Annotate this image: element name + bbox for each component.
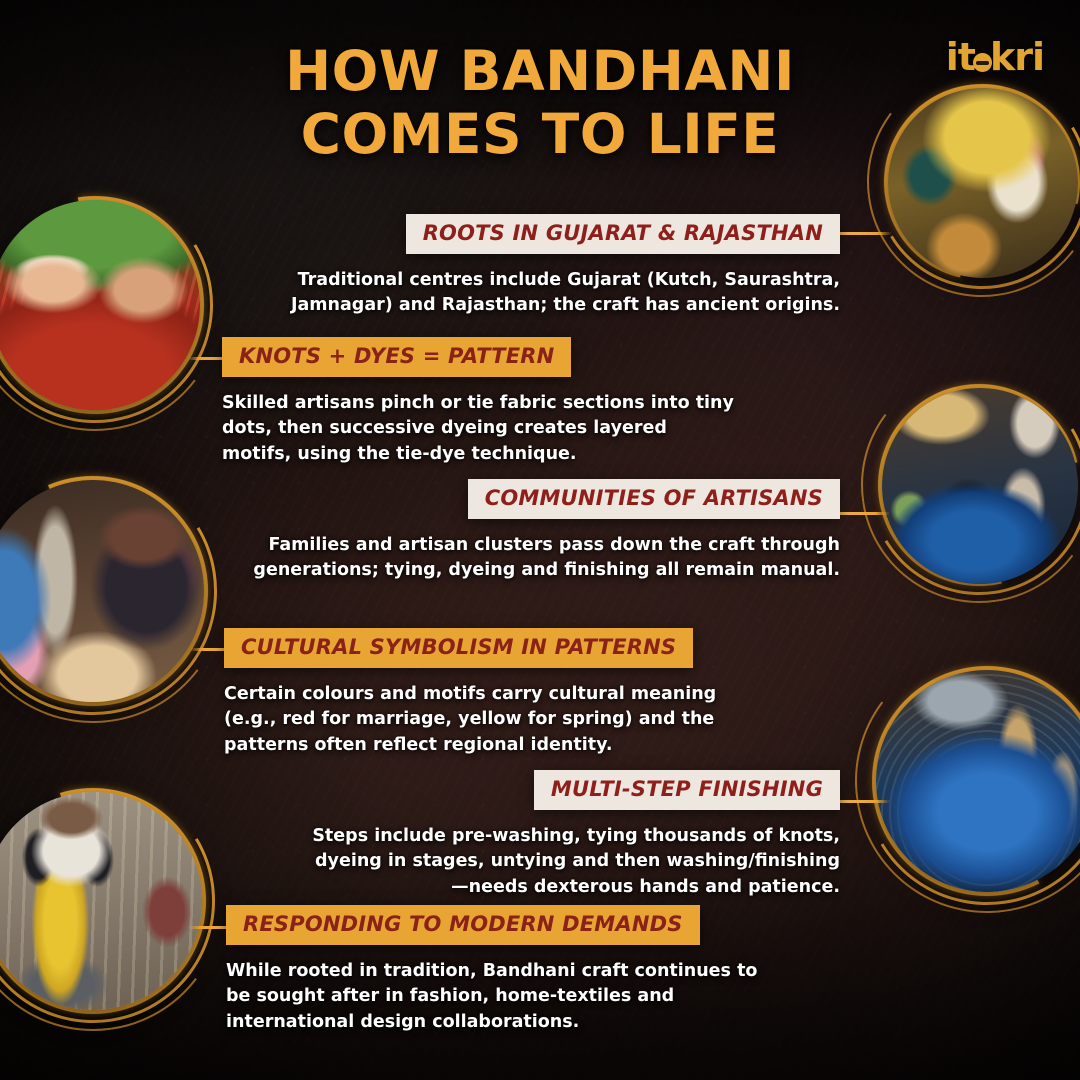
photo-artisan-dyeing-blue-tub bbox=[882, 388, 1078, 584]
section-label-knots[interactable]: KNOTS + DYES = PATTERN bbox=[222, 337, 571, 377]
photo-indigo-dye-vat bbox=[876, 670, 1080, 892]
photo-two-women-tying bbox=[888, 88, 1078, 278]
section-body-roots: Traditional centres include Gujarat (Kut… bbox=[280, 268, 840, 319]
section-body-modern: While rooted in tradition, Bandhani craf… bbox=[226, 959, 786, 1036]
section-label-roots[interactable]: ROOTS IN GUJARAT & RAJASTHAN bbox=[406, 214, 840, 254]
connector-line-finishing bbox=[840, 800, 890, 803]
section-modern: RESPONDING TO MODERN DEMANDS While roote… bbox=[226, 905, 786, 1036]
section-knots: KNOTS + DYES = PATTERN Skilled artisans … bbox=[222, 337, 742, 468]
connector-line-roots bbox=[840, 232, 892, 235]
photo-hands-tying-red-fabric bbox=[0, 200, 200, 410]
section-communities: COMMUNITIES OF ARTISANS Families and art… bbox=[240, 479, 840, 584]
brand-logo-text: it bbox=[946, 35, 975, 79]
section-body-knots: Skilled artisans pinch or tie fabric sec… bbox=[222, 391, 742, 468]
section-label-communities[interactable]: COMMUNITIES OF ARTISANS bbox=[468, 479, 840, 519]
section-finishing: MULTI-STEP FINISHING Steps include pre-w… bbox=[310, 770, 840, 901]
photo-artisan-lifting-yellow-fabric bbox=[0, 792, 202, 1010]
section-roots: ROOTS IN GUJARAT & RAJASTHAN Traditional… bbox=[280, 214, 840, 319]
photo-women-tying-cream-fabric bbox=[0, 480, 204, 702]
infographic-poster: itkri HOW BANDHANI COMES TO LIFE bbox=[0, 0, 1080, 1080]
section-body-communities: Families and artisan clusters pass down … bbox=[240, 533, 840, 584]
brand-logo: itkri bbox=[946, 38, 1044, 76]
section-label-symbolism[interactable]: CULTURAL SYMBOLISM IN PATTERNS bbox=[224, 628, 693, 668]
connector-line-communities bbox=[840, 512, 890, 515]
section-label-modern[interactable]: RESPONDING TO MODERN DEMANDS bbox=[226, 905, 700, 945]
logo-dot-icon bbox=[973, 53, 992, 72]
section-body-finishing: Steps include pre-washing, tying thousan… bbox=[310, 824, 840, 901]
section-symbolism: CULTURAL SYMBOLISM IN PATTERNS Certain c… bbox=[224, 628, 769, 759]
section-label-finishing[interactable]: MULTI-STEP FINISHING bbox=[534, 770, 840, 810]
section-body-symbolism: Certain colours and motifs carry cultura… bbox=[224, 682, 769, 759]
brand-logo-text-tail: kri bbox=[990, 35, 1044, 79]
